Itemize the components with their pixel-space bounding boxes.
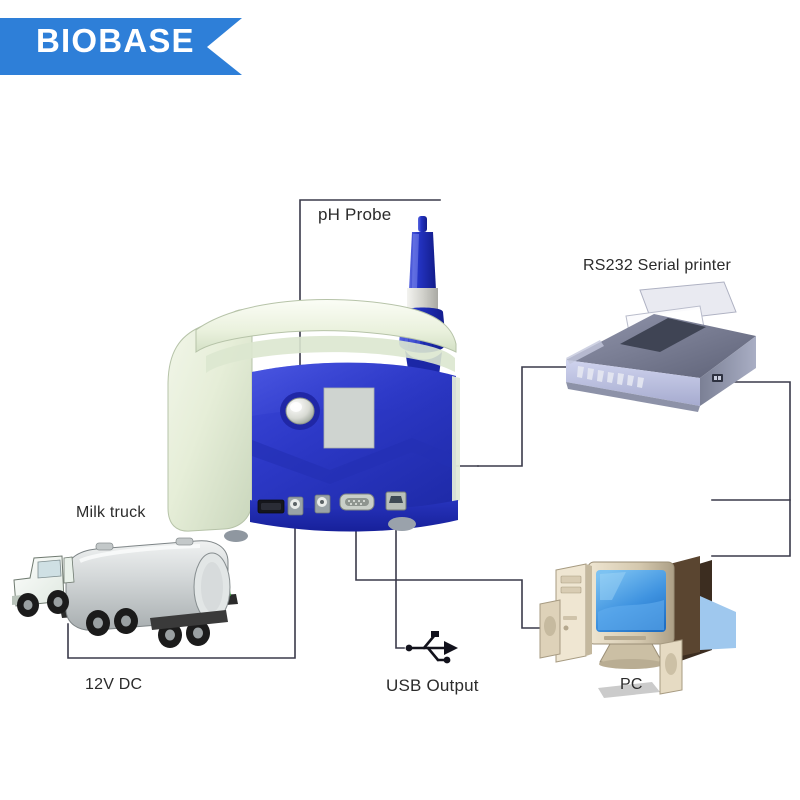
label-pc: PC [620, 676, 643, 694]
usb-b-socket [386, 492, 406, 510]
aux-socket [315, 495, 330, 513]
label-ph-probe: pH Probe [318, 205, 391, 225]
label-12v-dc: 12V DC [85, 676, 142, 694]
ph-probe-socket [280, 392, 320, 430]
brand-logo-text: BIOBASE [36, 22, 195, 60]
milk-analyzer-device [168, 300, 460, 542]
rs232-serial-printer [566, 282, 756, 412]
rocker-power-switch [258, 500, 284, 513]
usb-trident-icon [410, 636, 448, 660]
diagram-canvas: BIOBASE pH Probe RS232 Serial printer Mi… [0, 0, 800, 800]
label-usb-output: USB Output [386, 676, 479, 696]
label-milk-truck: Milk truck [76, 504, 146, 522]
milk-tanker-truck [12, 538, 238, 648]
dc-power-socket [288, 497, 303, 515]
label-rs232-serial-printer: RS232 Serial printer [583, 257, 731, 275]
db9-serial-socket [340, 494, 374, 510]
